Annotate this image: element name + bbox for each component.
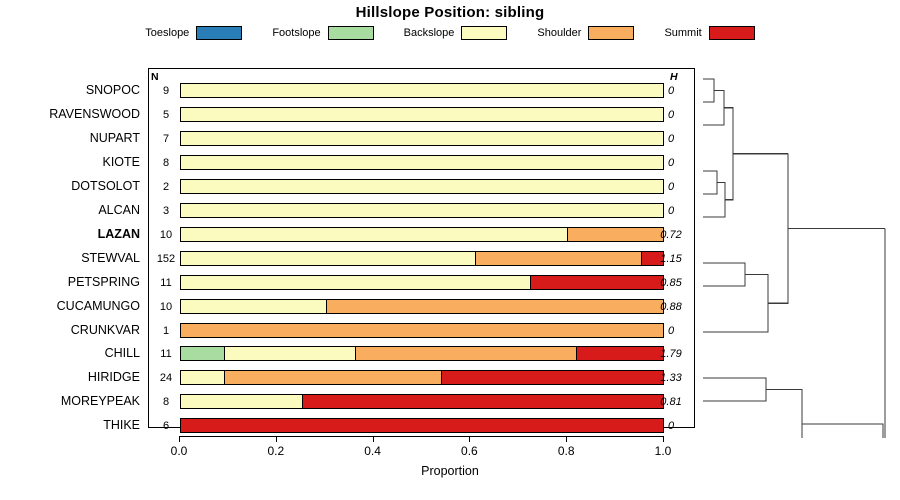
x-axis-title: Proportion: [0, 464, 900, 478]
n-value: 11: [149, 348, 183, 360]
n-value: 24: [149, 372, 183, 384]
row-label-nupart[interactable]: NUPART: [0, 131, 140, 145]
legend-swatch-shoulder: [588, 26, 634, 40]
n-value: 2: [149, 181, 183, 193]
n-value: 9: [149, 85, 183, 97]
legend-swatch-toeslope: [196, 26, 242, 40]
bar-segment: [181, 347, 224, 360]
x-axis-tick-label: 0.4: [353, 444, 393, 458]
n-value: 8: [149, 157, 183, 169]
bar-alcan[interactable]: [180, 203, 664, 218]
bar-thike[interactable]: [180, 418, 664, 433]
bar-crunkvar[interactable]: [180, 323, 664, 338]
bar-segment: [355, 347, 577, 360]
bar-cucamungo[interactable]: [180, 299, 664, 314]
x-axis-tick: [179, 436, 180, 442]
h-value: 1.15: [649, 253, 693, 265]
h-value: 0.81: [649, 396, 693, 408]
n-value: 3: [149, 205, 183, 217]
h-value: 0: [649, 325, 693, 337]
bar-segment: [181, 419, 663, 432]
bar-chill[interactable]: [180, 346, 664, 361]
row-label-axis: SNOPOCRAVENSWOODNUPARTKIOTEDOTSOLOTALCAN…: [0, 68, 144, 428]
row-label-crunkvar[interactable]: CRUNKVAR: [0, 323, 140, 337]
bar-nupart[interactable]: [180, 131, 664, 146]
legend-item-shoulder: Shoulder: [537, 26, 634, 40]
x-axis-tick: [373, 436, 374, 442]
x-axis-tick: [663, 436, 664, 442]
h-value: 1.33: [649, 372, 693, 384]
bar-segment: [530, 276, 663, 289]
legend-label: Backslope: [404, 27, 455, 39]
legend-item-toeslope: Toeslope: [145, 26, 242, 40]
x-axis-tick-label: 0.2: [256, 444, 296, 458]
stacked-bar-plot: NH 9578231015211101112486 0000000.721.15…: [148, 68, 695, 428]
n-column-header: N: [151, 71, 159, 83]
h-value: 0: [649, 157, 693, 169]
h-value: 0: [649, 85, 693, 97]
legend-label: Shoulder: [537, 27, 581, 39]
row-label-stewval[interactable]: STEWVAL: [0, 251, 140, 265]
legend-label: Toeslope: [145, 27, 189, 39]
h-value: 1.79: [649, 348, 693, 360]
bar-stewval[interactable]: [180, 251, 664, 266]
row-label-lazan[interactable]: LAZAN: [0, 227, 140, 241]
bar-segment: [441, 371, 663, 384]
legend-item-footslope: Footslope: [272, 26, 373, 40]
x-axis-tick: [566, 436, 567, 442]
h-value: 0: [649, 133, 693, 145]
bar-hiridge[interactable]: [180, 370, 664, 385]
x-axis-tick-label: 0.6: [449, 444, 489, 458]
row-label-dotsolot[interactable]: DOTSOLOT: [0, 179, 140, 193]
n-value: 8: [149, 396, 183, 408]
bar-segment: [181, 395, 302, 408]
x-axis-tick: [469, 436, 470, 442]
row-label-kiote[interactable]: KIOTE: [0, 155, 140, 169]
x-axis-tick: [276, 436, 277, 442]
row-label-moreypeak[interactable]: MOREYPEAK: [0, 394, 140, 408]
x-axis-tick-label: 0.8: [546, 444, 586, 458]
bar-dotsolot[interactable]: [180, 179, 664, 194]
x-axis-tick-label: 0.0: [159, 444, 199, 458]
bar-segment: [326, 300, 663, 313]
n-value: 10: [149, 301, 183, 313]
bar-ravenswood[interactable]: [180, 107, 664, 122]
legend-swatch-backslope: [461, 26, 507, 40]
legend-label: Footslope: [272, 27, 320, 39]
dendrogram-svg: [700, 60, 900, 438]
bar-lazan[interactable]: [180, 227, 664, 242]
row-label-ravenswood[interactable]: RAVENSWOOD: [0, 107, 140, 121]
bar-snopoc[interactable]: [180, 83, 664, 98]
bar-segment: [181, 324, 663, 337]
n-value: 10: [149, 229, 183, 241]
bar-segment: [181, 180, 663, 193]
x-axis-tick-label: 1.0: [643, 444, 683, 458]
bar-segment: [181, 204, 663, 217]
bar-segment: [475, 252, 641, 265]
h-value: 0.72: [649, 229, 693, 241]
legend-label: Summit: [664, 27, 701, 39]
bar-segment: [224, 347, 354, 360]
bar-segment: [181, 276, 530, 289]
legend: Toeslope Footslope Backslope Shoulder Su…: [0, 26, 900, 40]
row-label-hiridge[interactable]: HIRIDGE: [0, 370, 140, 384]
n-value: 6: [149, 420, 183, 432]
bar-moreypeak[interactable]: [180, 394, 664, 409]
n-value: 1: [149, 325, 183, 337]
row-label-petspring[interactable]: PETSPRING: [0, 275, 140, 289]
h-value: 0: [649, 109, 693, 121]
row-label-alcan[interactable]: ALCAN: [0, 203, 140, 217]
h-value: 0.85: [649, 277, 693, 289]
bar-segment: [302, 395, 664, 408]
bar-segment: [181, 84, 663, 97]
legend-swatch-summit: [709, 26, 755, 40]
n-value: 152: [149, 253, 183, 265]
bar-segment: [181, 252, 475, 265]
n-value: 7: [149, 133, 183, 145]
bar-segment: [181, 228, 567, 241]
bar-petspring[interactable]: [180, 275, 664, 290]
h-value: 0: [649, 181, 693, 193]
bar-segment: [181, 371, 224, 384]
legend-swatch-footslope: [328, 26, 374, 40]
h-value: 0: [649, 205, 693, 217]
h-value: 0: [649, 420, 693, 432]
h-value: 0.88: [649, 301, 693, 313]
x-axis-line: [179, 436, 663, 437]
bar-segment: [181, 300, 326, 313]
row-label-chill[interactable]: CHILL: [0, 346, 140, 360]
row-label-snopoc[interactable]: SNOPOC: [0, 83, 140, 97]
n-value: 11: [149, 277, 183, 289]
h-column-header: H: [670, 71, 678, 83]
legend-item-summit: Summit: [664, 26, 754, 40]
bar-segment: [181, 156, 663, 169]
bar-segment: [181, 132, 663, 145]
dendrogram: [700, 60, 900, 438]
bar-segment: [181, 108, 663, 121]
page-title: Hillslope Position: sibling: [0, 4, 900, 21]
legend-item-backslope: Backslope: [404, 26, 508, 40]
row-label-cucamungo[interactable]: CUCAMUNGO: [0, 299, 140, 313]
row-label-thike[interactable]: THIKE: [0, 418, 140, 432]
bar-kiote[interactable]: [180, 155, 664, 170]
n-value: 5: [149, 109, 183, 121]
bar-segment: [224, 371, 441, 384]
